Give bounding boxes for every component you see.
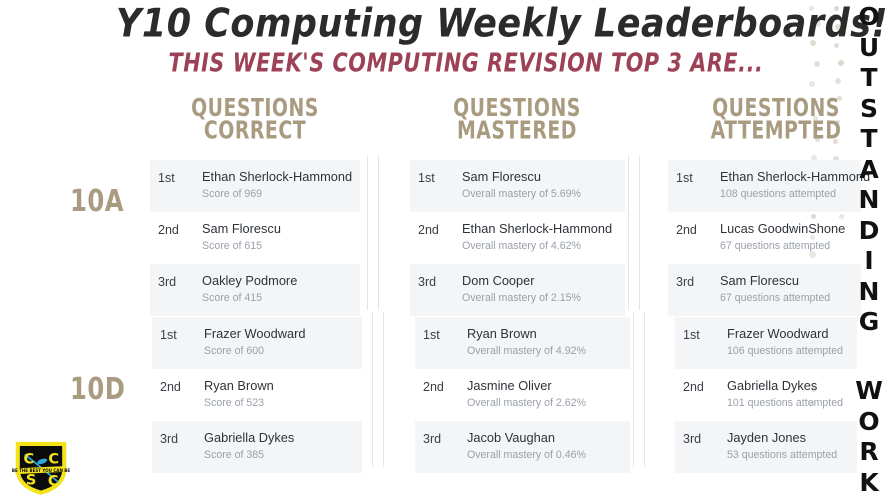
- student-stat: 106 questions attempted: [727, 344, 849, 359]
- column-divider: [644, 312, 645, 467]
- entry: Frazer WoodwardScore of 600: [204, 326, 354, 359]
- entry: Sam Florescu67 questions attempted: [720, 273, 853, 306]
- entry: Ryan BrownOverall mastery of 4.92%: [467, 326, 622, 359]
- column-divider: [372, 312, 373, 467]
- student-stat: 101 questions attempted: [727, 396, 849, 411]
- leaderboard-row: 3rdDom CooperOverall mastery of 2.15%: [410, 264, 625, 316]
- rank-label: 3rd: [158, 273, 202, 290]
- leaderboard-row: 3rdSam Florescu67 questions attempted: [668, 264, 861, 316]
- student-name: Gabriella Dykes: [727, 378, 849, 394]
- student-stat: Score of 600: [204, 344, 354, 359]
- leaderboard-10d-questions-attempted: 1stFrazer Woodward106 questions attempte…: [675, 317, 857, 473]
- student-stat: Score of 969: [202, 187, 352, 202]
- rank-label: 2nd: [158, 221, 202, 238]
- student-stat: Overall mastery of 5.69%: [462, 187, 617, 202]
- student-stat: Score of 385: [204, 448, 354, 463]
- rank-label: 2nd: [683, 378, 727, 395]
- rank-label: 2nd: [160, 378, 204, 395]
- column-divider: [633, 312, 634, 467]
- leaderboard-10a-questions-correct: 1stEthan Sherlock-HammondScore of 9692nd…: [150, 160, 360, 316]
- crest-letter-c1: C: [23, 452, 34, 468]
- leaderboard-row: 1stSam FlorescuOverall mastery of 5.69%: [410, 160, 625, 212]
- page-title: Y10 Computing Weekly Leaderboards!: [116, 2, 816, 47]
- student-name: Ethan Sherlock-Hammond: [720, 169, 853, 185]
- entry: Jasmine OliverOverall mastery of 2.62%: [467, 378, 622, 411]
- entry: Frazer Woodward106 questions attempted: [727, 326, 849, 359]
- banner-letter: I: [849, 246, 889, 277]
- leaderboard-row: 2ndLucas GoodwinShone67 questions attemp…: [668, 212, 861, 264]
- banner-letter: O: [849, 407, 889, 438]
- student-stat: 53 questions attempted: [727, 448, 849, 463]
- leaderboard-row: 2ndRyan BrownScore of 523: [152, 369, 362, 421]
- leaderboard-row: 1stEthan Sherlock-HammondScore of 969: [150, 160, 360, 212]
- entry: Oakley PodmoreScore of 415: [202, 273, 352, 306]
- student-name: Frazer Woodward: [727, 326, 849, 342]
- banner-letter: T: [849, 124, 889, 155]
- leaderboard-10a-questions-attempted: 1stEthan Sherlock-Hammond108 questions a…: [668, 160, 861, 316]
- leaderboard-row: 3rdOakley PodmoreScore of 415: [150, 264, 360, 316]
- crest-letter-c3: C: [48, 474, 59, 490]
- student-name: Dom Cooper: [462, 273, 617, 289]
- leaderboard-10a-questions-mastered: 1stSam FlorescuOverall mastery of 5.69%2…: [410, 160, 625, 316]
- student-name: Sam Florescu: [720, 273, 853, 289]
- student-stat: 67 questions attempted: [720, 239, 853, 254]
- column-header-questions-attempted: QUESTIONS ATTEMPTED: [690, 97, 862, 142]
- rank-label: 1st: [676, 169, 720, 186]
- class-label-10a: 10A: [70, 184, 124, 219]
- student-name: Sam Florescu: [462, 169, 617, 185]
- leaderboard-10d-questions-correct: 1stFrazer WoodwardScore of 6002ndRyan Br…: [152, 317, 362, 473]
- rank-label: 3rd: [683, 430, 727, 447]
- banner-letter: R: [849, 437, 889, 468]
- entry: Gabriella Dykes101 questions attempted: [727, 378, 849, 411]
- side-banner-outstanding: OUTSTANDING: [849, 2, 889, 338]
- banner-letter: G: [849, 307, 889, 338]
- banner-letter: T: [849, 63, 889, 94]
- decorative-dot: [809, 81, 815, 87]
- student-stat: Score of 523: [204, 396, 354, 411]
- poster-canvas: Y10 Computing Weekly Leaderboards! THIS …: [0, 0, 889, 500]
- rank-label: 3rd: [676, 273, 720, 290]
- entry: Lucas GoodwinShone67 questions attempted: [720, 221, 853, 254]
- rank-label: 1st: [158, 169, 202, 186]
- entry: Jayden Jones53 questions attempted: [727, 430, 849, 463]
- student-name: Frazer Woodward: [204, 326, 354, 342]
- leaderboard-row: 2ndJasmine OliverOverall mastery of 2.62…: [415, 369, 630, 421]
- leaderboard-row: 2ndSam FlorescuScore of 615: [150, 212, 360, 264]
- student-stat: Overall mastery of 2.15%: [462, 291, 617, 306]
- banner-letter: U: [849, 33, 889, 64]
- leaderboard-row: 1stRyan BrownOverall mastery of 4.92%: [415, 317, 630, 369]
- student-stat: Score of 415: [202, 291, 352, 306]
- banner-letter: K: [849, 468, 889, 499]
- rank-label: 1st: [160, 326, 204, 343]
- banner-letter: D: [849, 216, 889, 247]
- column-header-questions-mastered: QUESTIONS MASTERED: [412, 97, 622, 142]
- student-name: Lucas GoodwinShone: [720, 221, 853, 237]
- column-divider: [367, 155, 368, 310]
- entry: Ethan Sherlock-Hammond108 questions atte…: [720, 169, 853, 202]
- column-divider: [628, 155, 629, 310]
- leaderboard-row: 3rdJayden Jones53 questions attempted: [675, 421, 857, 473]
- leaderboard-row: 2ndEthan Sherlock-HammondOverall mastery…: [410, 212, 625, 264]
- student-name: Ethan Sherlock-Hammond: [462, 221, 617, 237]
- entry: Sam FlorescuOverall mastery of 5.69%: [462, 169, 617, 202]
- entry: Ryan BrownScore of 523: [204, 378, 354, 411]
- column-header-questions-correct: QUESTIONS CORRECT: [150, 97, 360, 142]
- rank-label: 1st: [683, 326, 727, 343]
- crest-letter-s: S: [26, 473, 36, 489]
- crest-motto: BE THE BEST YOU CAN BE: [12, 468, 70, 473]
- rank-label: 1st: [418, 169, 462, 186]
- student-name: Oakley Podmore: [202, 273, 352, 289]
- column-divider: [378, 155, 379, 310]
- student-name: Ethan Sherlock-Hammond: [202, 169, 352, 185]
- rank-label: 2nd: [423, 378, 467, 395]
- rank-label: 2nd: [418, 221, 462, 238]
- student-name: Gabriella Dykes: [204, 430, 354, 446]
- page-subtitle: THIS WEEK'S COMPUTING REVISION TOP 3 ARE…: [130, 48, 802, 78]
- decorative-dot: [814, 61, 820, 67]
- student-name: Ryan Brown: [204, 378, 354, 394]
- rank-label: 3rd: [160, 430, 204, 447]
- crest-letter-c2: C: [48, 452, 59, 468]
- leaderboard-row: 1stFrazer Woodward106 questions attempte…: [675, 317, 857, 369]
- banner-letter: S: [849, 94, 889, 125]
- student-name: Sam Florescu: [202, 221, 352, 237]
- student-name: Jacob Vaughan: [467, 430, 622, 446]
- banner-letter: W: [849, 376, 889, 407]
- student-name: Jayden Jones: [727, 430, 849, 446]
- entry: Dom CooperOverall mastery of 2.15%: [462, 273, 617, 306]
- leaderboard-row: 1stFrazer WoodwardScore of 600: [152, 317, 362, 369]
- banner-letter: O: [849, 2, 889, 33]
- student-stat: Overall mastery of 4.92%: [467, 344, 622, 359]
- rank-label: 2nd: [676, 221, 720, 238]
- school-crest-logo: C C S C BE THE BEST YOU CAN BE: [12, 437, 70, 495]
- rank-label: 3rd: [423, 430, 467, 447]
- entry: Jacob VaughanOverall mastery of 0.46%: [467, 430, 622, 463]
- class-label-10d: 10D: [70, 372, 125, 407]
- student-stat: Overall mastery of 4.62%: [462, 239, 617, 254]
- side-banner-work: WORK: [849, 376, 889, 498]
- entry: Sam FlorescuScore of 615: [202, 221, 352, 254]
- leaderboard-row: 3rdJacob VaughanOverall mastery of 0.46%: [415, 421, 630, 473]
- banner-letter: N: [849, 277, 889, 308]
- decorative-dot: [838, 60, 844, 66]
- student-stat: 108 questions attempted: [720, 187, 853, 202]
- column-divider: [383, 312, 384, 467]
- student-stat: Overall mastery of 2.62%: [467, 396, 622, 411]
- student-name: Jasmine Oliver: [467, 378, 622, 394]
- entry: Ethan Sherlock-HammondOverall mastery of…: [462, 221, 617, 254]
- student-stat: 67 questions attempted: [720, 291, 853, 306]
- leaderboard-row: 3rdGabriella DykesScore of 385: [152, 421, 362, 473]
- entry: Gabriella DykesScore of 385: [204, 430, 354, 463]
- column-divider: [639, 155, 640, 310]
- rank-label: 3rd: [418, 273, 462, 290]
- banner-letter: N: [849, 185, 889, 216]
- banner-letter: A: [849, 155, 889, 186]
- student-name: Ryan Brown: [467, 326, 622, 342]
- rank-label: 1st: [423, 326, 467, 343]
- leaderboard-row: 2ndGabriella Dykes101 questions attempte…: [675, 369, 857, 421]
- entry: Ethan Sherlock-HammondScore of 969: [202, 169, 352, 202]
- decorative-dot: [835, 78, 841, 84]
- leaderboard-10d-questions-mastered: 1stRyan BrownOverall mastery of 4.92%2nd…: [415, 317, 630, 473]
- student-stat: Overall mastery of 0.46%: [467, 448, 622, 463]
- leaderboard-row: 1stEthan Sherlock-Hammond108 questions a…: [668, 160, 861, 212]
- student-stat: Score of 615: [202, 239, 352, 254]
